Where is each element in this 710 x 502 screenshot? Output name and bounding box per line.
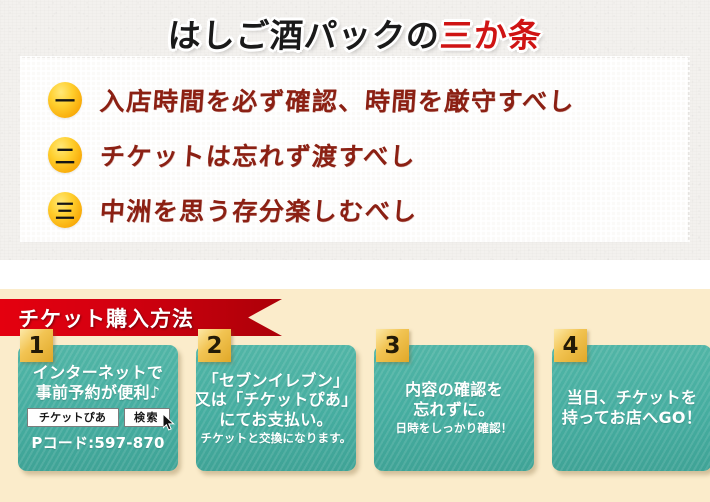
step-line-1b: 事前予約が便利♪ (36, 383, 161, 403)
step-line-2a: 「セブンイレブン」 (203, 371, 350, 391)
page-title-accent: 三か条 (439, 16, 543, 55)
step-line-2b: 又は「チケットぴあ」 (196, 390, 356, 410)
purchase-section: チケット購入方法 1 インターネットで 事前予約が便利♪ チケットぴあ 検索 P… (0, 289, 710, 502)
step-card-3: 内容の確認を 忘れずに。 日時をしっかり確認！ (374, 345, 534, 471)
search-widget: チケットぴあ 検索 (27, 408, 170, 427)
rule-text-3: 中洲を思う存分楽しむべし (99, 192, 420, 228)
mouse-pointer-icon (163, 414, 176, 431)
purchase-step-4: 4 当日、チケットを 持ってお店へGO！ (552, 345, 710, 471)
step-line-4b: 持ってお店へGO！ (562, 408, 702, 428)
step-line-3b: 忘れずに。 (413, 400, 495, 420)
purchase-step-1: 1 インターネットで 事前予約が便利♪ チケットぴあ 検索 Pコード:597-8… (18, 345, 178, 471)
step-line-3a: 内容の確認を (405, 380, 503, 400)
rule-item: 二 チケットは忘れず渡すべし (22, 127, 688, 182)
rules-panel: 一 入店時間を必ず確認、時間を厳守すべし 二 チケットは忘れず渡すべし 三 中洲… (22, 58, 688, 240)
page-title: はしご酒パックの三か条 (0, 8, 710, 58)
rule-badge-1: 一 (48, 82, 82, 118)
rule-badge-2: 二 (48, 137, 82, 173)
rule-text-2: チケットは忘れず渡すべし (99, 137, 418, 173)
rule-text-1: 入店時間を必ず確認、時間を厳守すべし (99, 82, 577, 118)
purchase-step-3: 3 内容の確認を 忘れずに。 日時をしっかり確認！ (374, 345, 534, 471)
step-number-badge-2: 2 (198, 329, 231, 362)
step-line-1a: インターネットで (33, 363, 163, 383)
rule-badge-3: 三 (48, 192, 82, 228)
search-input[interactable]: チケットぴあ (27, 408, 119, 427)
purchase-steps: 1 インターネットで 事前予約が便利♪ チケットぴあ 検索 Pコード:597-8… (0, 345, 710, 471)
step-sub-3: 日時をしっかり確認！ (396, 421, 513, 435)
step-number-badge-4: 4 (554, 329, 587, 362)
step-line-4a: 当日、チケットを (567, 388, 697, 408)
step-number-badge-3: 3 (376, 329, 409, 362)
step-card-1: インターネットで 事前予約が便利♪ チケットぴあ 検索 Pコード:597-870 (18, 345, 178, 471)
section-divider (0, 260, 710, 289)
step-card-2: 「セブンイレブン」 又は「チケットぴあ」 にてお支払い。 チケットと交換になりま… (196, 345, 356, 471)
step-line-2c: にてお支払い。 (219, 410, 333, 430)
step-number-badge-1: 1 (20, 329, 53, 362)
rule-item: 三 中洲を思う存分楽しむべし (22, 182, 688, 237)
page-title-main: はしご酒パックの (167, 16, 441, 55)
purchase-step-2: 2 「セブンイレブン」 又は「チケットぴあ」 にてお支払い。 チケットと交換にな… (196, 345, 356, 471)
rule-item: 一 入店時間を必ず確認、時間を厳守すべし (22, 72, 688, 127)
step-sub-2: チケットと交換になります。 (201, 431, 352, 445)
step-card-4: 当日、チケットを 持ってお店へGO！ (552, 345, 710, 471)
pcode-text: Pコード:597-870 (31, 432, 164, 453)
rules-section: はしご酒パックの三か条 一 入店時間を必ず確認、時間を厳守すべし 二 チケットは… (0, 0, 710, 260)
